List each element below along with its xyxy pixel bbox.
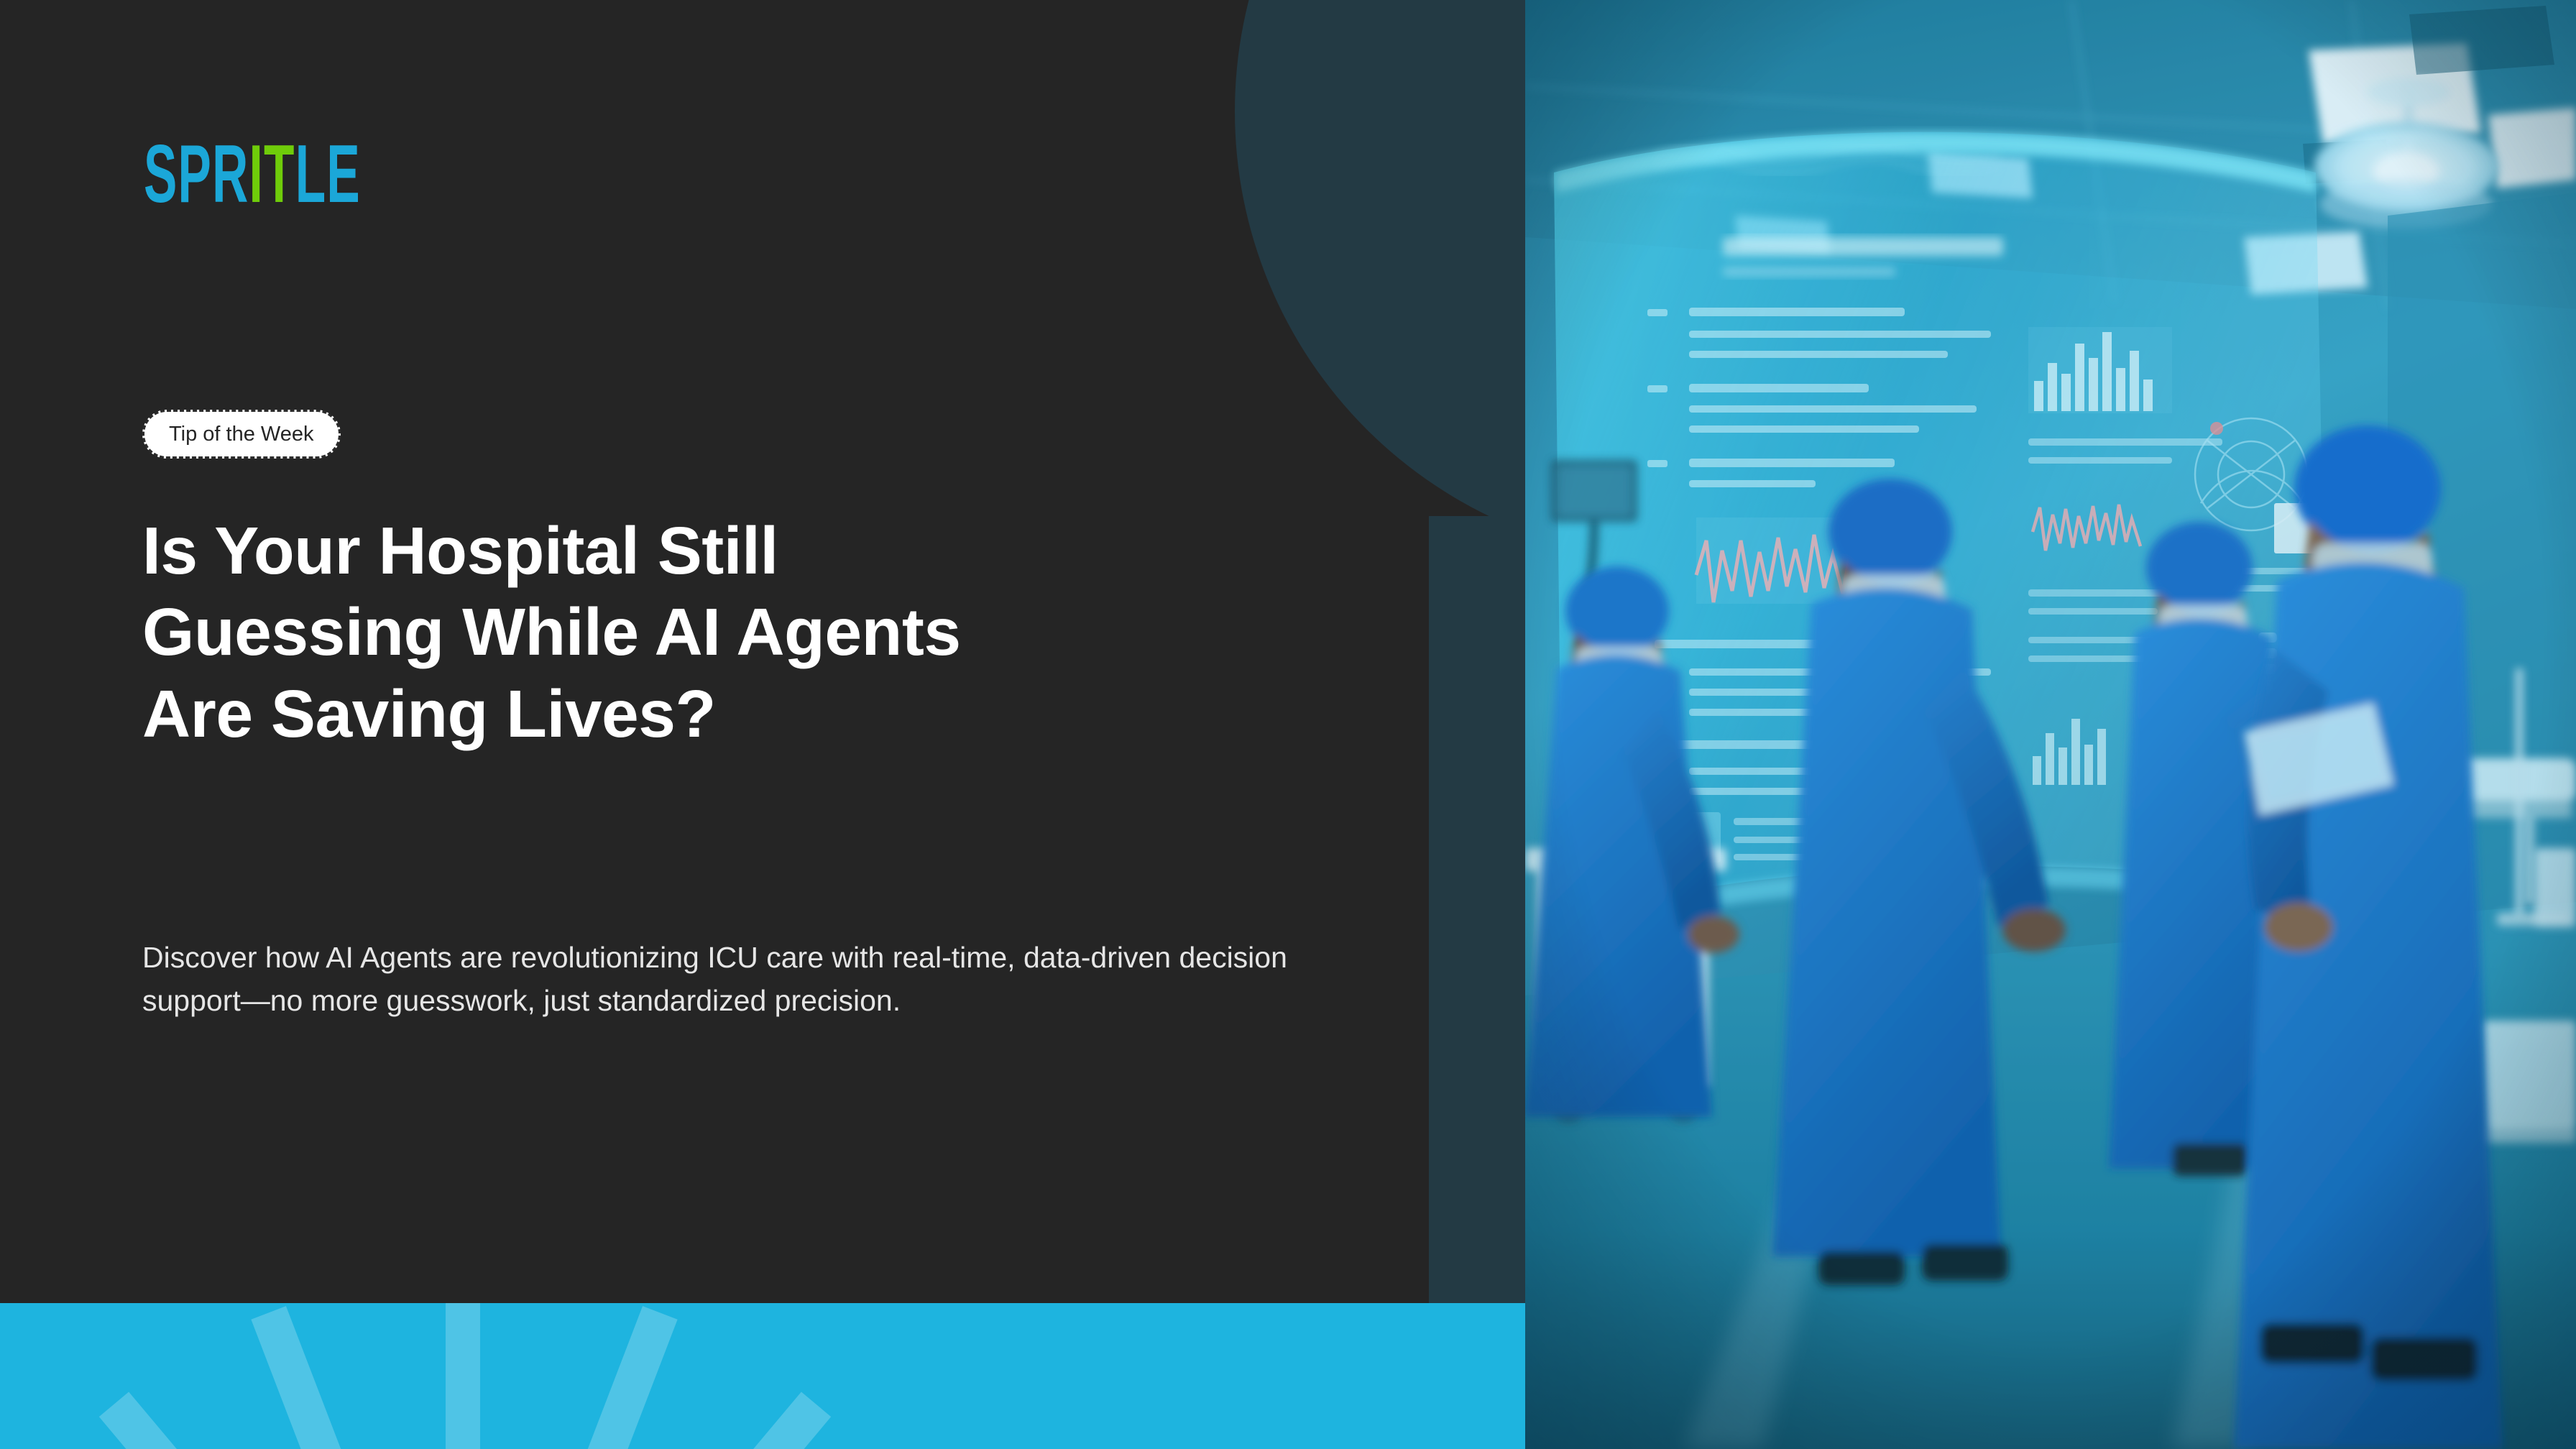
- poster-canvas: SPRITLE Tip of the Week Is Your Hospital…: [0, 0, 2576, 1449]
- logo-text-le: LE: [295, 128, 361, 219]
- hospital-icu-photo: [1525, 0, 2576, 1449]
- bottom-accent-band: [0, 1303, 1525, 1449]
- logo-text-it: IT: [249, 128, 295, 219]
- icu-scene-illustration: [1525, 0, 2576, 1449]
- decorative-block: [1429, 516, 1525, 1304]
- sunburst-ray: [446, 1303, 480, 1449]
- tip-of-the-week-badge: Tip of the Week: [142, 410, 341, 459]
- logo-text-spr: SPR: [144, 128, 249, 219]
- badge-label: Tip of the Week: [169, 423, 314, 446]
- sunburst-ray: [447, 1306, 678, 1449]
- headline-line-2: Guessing While AI Agents: [142, 592, 1321, 673]
- left-content-panel: SPRITLE Tip of the Week Is Your Hospital…: [0, 0, 1525, 1304]
- spritle-logo[interactable]: SPRITLE: [144, 133, 361, 215]
- page-title: Is Your Hospital Still Guessing While AI…: [142, 510, 1321, 755]
- headline-line-3: Are Saving Lives?: [142, 673, 1321, 755]
- headline-line-1: Is Your Hospital Still: [142, 510, 1321, 592]
- decorative-circle: [1235, 0, 1525, 561]
- description-text: Discover how AI Agents are revolutionizi…: [142, 937, 1364, 1023]
